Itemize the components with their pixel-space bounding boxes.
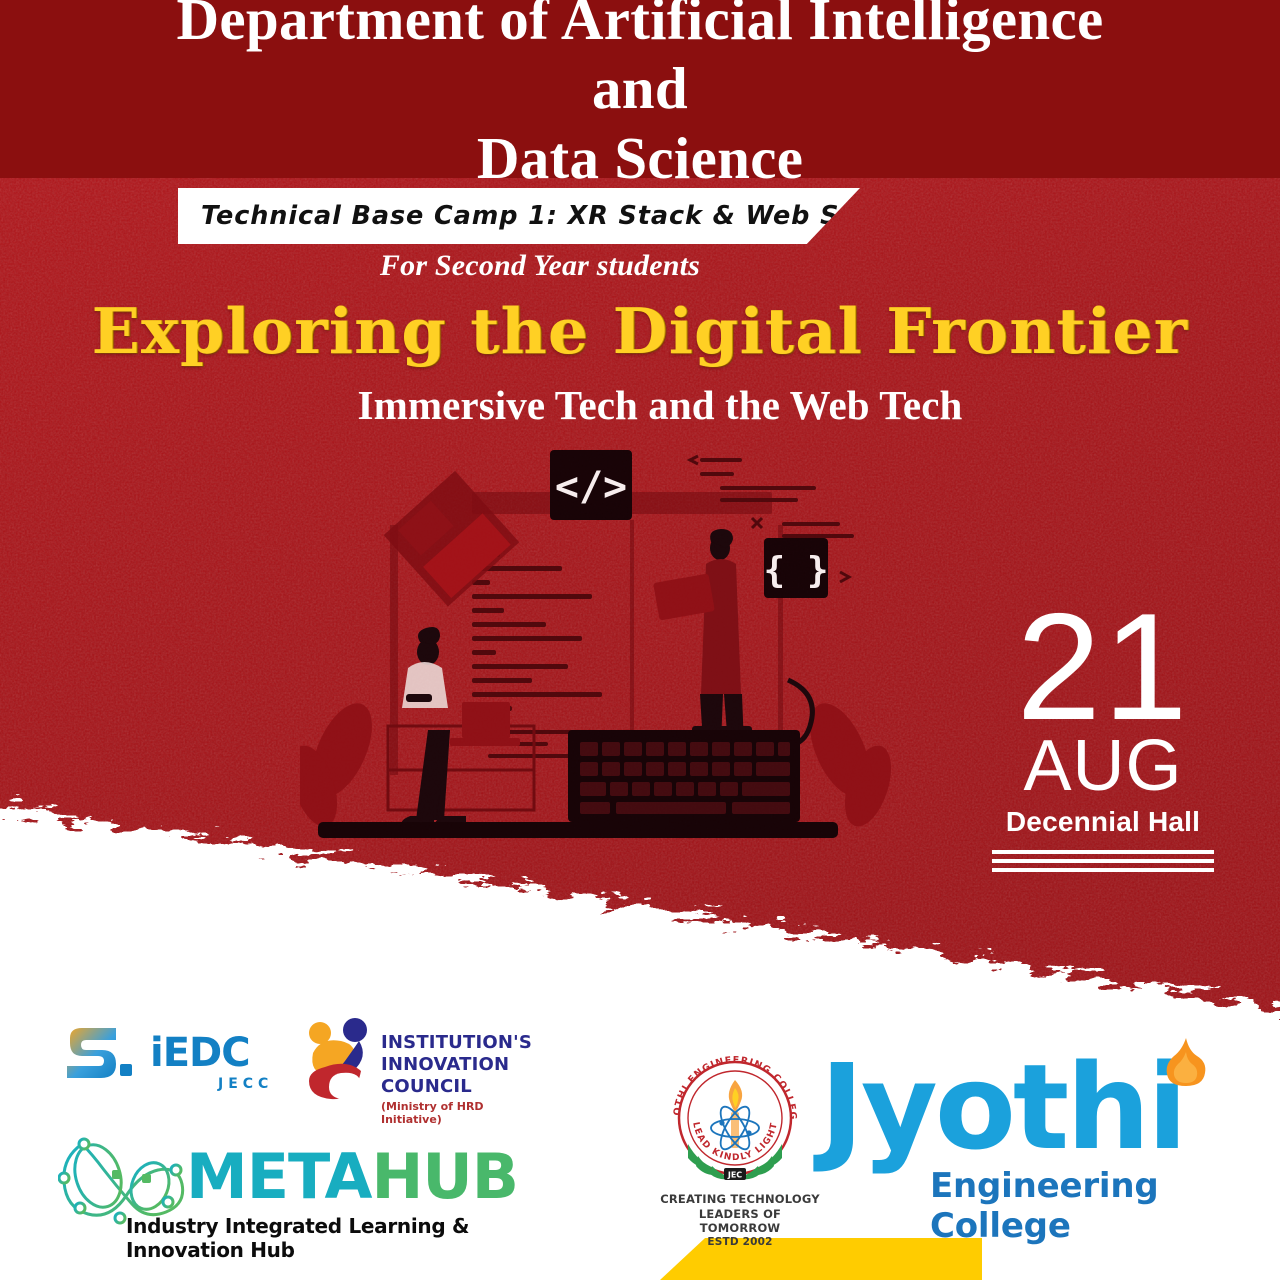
audience-note: For Second Year students — [0, 249, 1080, 283]
rule-line — [992, 868, 1214, 872]
rule-line — [992, 859, 1214, 863]
page-title: Department of Artificial Intelligence an… — [135, 0, 1145, 193]
page-title-line2: Data Science — [477, 125, 803, 191]
session-ribbon: Technical Base Camp 1: XR Stack & Web St… — [178, 188, 860, 244]
event-poster: Department of Artificial Intelligence an… — [0, 0, 1280, 1280]
session-ribbon-label: Technical Base Camp 1: XR Stack & Web St… — [178, 201, 904, 231]
event-title: Exploring the Digital Frontier — [0, 294, 1280, 368]
yellow-accent-bar — [660, 1238, 982, 1280]
venue-label: Decennial Hall — [988, 807, 1218, 838]
event-tagline: Immersive Tech and the Web Tech — [0, 381, 1280, 429]
header-banner: Department of Artificial Intelligence an… — [0, 0, 1280, 178]
page-title-line1: Department of Artificial Intelligence an… — [177, 0, 1104, 121]
date-day: 21 — [988, 605, 1218, 730]
date-block: 21 AUG Decennial Hall — [988, 605, 1218, 872]
rule-line — [992, 850, 1214, 854]
date-underline-rules — [988, 850, 1218, 872]
